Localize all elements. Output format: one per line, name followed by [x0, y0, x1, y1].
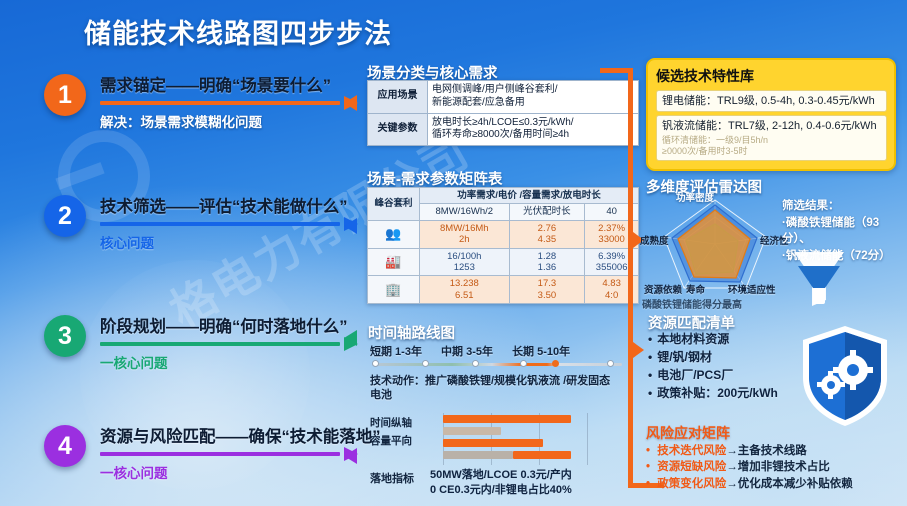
scene-row-1-value: 放电时长≥4h/LCOE≤0.3元/kWh/循环寿命≥8000次/备用时间≥4h	[428, 113, 639, 146]
risk-item-0-value: 主备技术线路	[738, 445, 807, 457]
step-3-arrow-icon	[100, 339, 358, 349]
timeline-dot-0[interactable]	[372, 360, 379, 367]
step-1-heading: 需求锚定——明确“场景要什么”	[100, 72, 331, 96]
timeline-period-labels: 短期 1-3年 中期 3-5年 长期 5-10年	[370, 343, 570, 359]
risk-item-1-value: 增加非锂技术占比	[738, 461, 830, 473]
gantt-metric-value: 50MW落地/LCOE 0.3元/产内0 CE0.3元内/非锂电占比40%	[430, 468, 660, 497]
matrix-r1-c0: 16/100h1253	[420, 248, 510, 276]
page-title: 储能技术线路图四步步法	[84, 12, 392, 51]
step-2-heading: 技术筛选——评估“技术能做什么”	[100, 193, 348, 217]
radar-extra-label-0: 资源依赖	[644, 282, 682, 296]
matrix-r0-c1: 2.764.35	[509, 220, 585, 248]
risk-item-1-key: 资源短缺风险	[657, 461, 726, 473]
candidate-library-title: 候选技术特性库	[656, 66, 887, 86]
timeline-label-2: 长期 5-10年	[512, 346, 570, 358]
risk-item-2: 政策变化风险→优化成本减少补贴依赖	[646, 476, 896, 492]
risk-item-0-key: 技术迭代风险	[657, 445, 726, 457]
gantt-bar	[443, 427, 501, 435]
risk-item-1-arrow: →	[726, 461, 738, 473]
radar-axis-label-4: 成熟度	[640, 233, 669, 247]
scene-table: 应用场景 电网侧调峰/用户侧峰谷套利/新能源配套/应急备用 关键参数 放电时长≥…	[367, 80, 639, 146]
step-4-number: 4	[44, 425, 86, 467]
screening-result-title: 筛选结果：	[782, 198, 902, 215]
timeline-dot-5[interactable]	[607, 360, 614, 367]
risk-item-2-value: 优化成本减少补贴依赖	[738, 478, 853, 490]
candidate-row-1: 钒液流储能：TRL7级, 2-12h, 0.4-0.6元/kWh 循环清储能：一…	[656, 115, 887, 161]
step-4-subtitle: 一核心问题	[100, 462, 168, 482]
risk-matrix-title: 风险应对矩阵	[646, 423, 896, 443]
step3-to-timeline-arrow-icon	[344, 330, 357, 346]
factory-icon: 🏭	[368, 248, 420, 276]
gantt-gridline	[587, 413, 588, 465]
step-1-subtitle: 解决：场景需求模糊化问题	[100, 111, 262, 131]
step-3-heading: 阶段规划——明确“何时落地什么”	[100, 313, 348, 337]
gantt-chart: 时间纵轴 容量平向	[365, 413, 633, 471]
timeline-label-0: 短期 1-3年	[370, 346, 422, 358]
step-1-number: 1	[44, 74, 86, 116]
matrix-r2-c0: 13.2386.51	[420, 276, 510, 304]
risk-item-1: 资源短缺风险→增加非锂技术占比	[646, 459, 896, 475]
candidate-faded-0: 循环清储能：一级9/目5h/n	[662, 135, 768, 145]
timeline-note: 技术动作：推广磷酸铁锂/规模化钒液流 /研发固态电池	[370, 374, 620, 403]
matrix-span-header: 功率需求/电价 /容量需求/放电时长	[420, 188, 639, 204]
building-icon: 🏢	[368, 276, 420, 304]
shield-gear-icon	[795, 322, 895, 430]
candidate-library-card: 候选技术特性库 锂电储能：TRL9级, 0.5-4h, 0.3-0.45元/kW…	[646, 58, 896, 171]
connector-arrow-low-icon	[633, 342, 644, 358]
step2-to-table-arrow-icon	[344, 218, 357, 234]
gantt-bar	[443, 439, 543, 447]
risk-item-0-arrow: →	[726, 445, 738, 457]
step-4-arrow-icon	[100, 449, 358, 459]
table-row: 🏭 16/100h1253 1.281.36 6.39%355006	[368, 248, 639, 276]
risk-item-2-key: 政策变化风险	[657, 478, 726, 490]
table-row: 峰谷套利 功率需求/电价 /容量需求/放电时长	[368, 188, 639, 204]
risk-matrix: 风险应对矩阵 技术迭代风险→主备技术线路 资源短缺风险→增加非锂技术占比 政策变…	[646, 423, 896, 492]
timeline-track[interactable]	[372, 363, 622, 366]
matrix-table-title: 场景-需求参数矩阵表	[367, 168, 502, 189]
table-row: 关键参数 放电时长≥4h/LCOE≤0.3元/kWh/循环寿命≥8000次/备用…	[368, 113, 639, 146]
radar-axis-label-2: 环境适应性	[728, 282, 776, 296]
table-row: 👥 8MW/16Mh2h 2.764.35 2.37%33000	[368, 220, 639, 248]
matrix-corner: 峰谷套利	[368, 188, 420, 221]
step-3-subtitle: 一核心问题	[100, 352, 168, 372]
users-icon: 👥	[368, 220, 420, 248]
matrix-table: 峰谷套利 功率需求/电价 /容量需求/放电时长 8MW/16Wh/2 光伏配时长…	[367, 187, 639, 304]
radar-axis-label-0: 功率密度	[676, 190, 714, 204]
table-row: 🏢 13.2386.51 17.33.50 4.834:0	[368, 276, 639, 304]
matrix-subheader-1: 光伏配时长	[509, 204, 585, 220]
candidate-faded-1: ≥0000次/备用时3-5时	[662, 146, 747, 156]
candidate-row-0: 锂电储能：TRL9级, 0.5-4h, 0.3-0.45元/kWh	[656, 90, 887, 112]
step-1-arrow-icon	[100, 98, 358, 108]
connector-vertical	[628, 68, 633, 488]
gantt-row-label-1: 容量平向	[370, 433, 412, 448]
step-2-subtitle: 核心问题	[100, 232, 154, 252]
risk-item-2-arrow: →	[726, 478, 738, 490]
gantt-bar	[513, 451, 571, 459]
step-4-heading: 资源与风险匹配——确保“技术能落地”	[100, 423, 381, 447]
step4-to-gantt-arrow-icon	[344, 448, 357, 464]
gantt-bar	[443, 451, 513, 459]
timeline-dot-3[interactable]	[520, 360, 527, 367]
gantt-row-label-0: 时间纵轴	[370, 415, 412, 430]
gantt-bar	[443, 415, 571, 423]
matrix-r1-c1: 1.281.36	[509, 248, 585, 276]
candidate-row-1-text: 钒液流储能：TRL7级, 2-12h, 0.4-0.6元/kWh	[662, 120, 877, 132]
timeline-dot-2[interactable]	[472, 360, 479, 367]
table-row: 应用场景 电网侧调峰/用户侧峰谷套利/新能源配套/应急备用	[368, 81, 639, 114]
gantt-metric-label: 落地指标	[370, 470, 414, 486]
step1-to-table-arrow-icon	[344, 95, 357, 111]
radar-axis-label-3: 寿命	[686, 282, 705, 296]
risk-item-0: 技术迭代风险→主备技术线路	[646, 443, 896, 459]
funnel-icon	[780, 238, 858, 316]
timeline-label-1: 中期 3-5年	[441, 346, 493, 358]
timeline-dot-1[interactable]	[422, 360, 429, 367]
scene-row-0-label: 应用场景	[368, 81, 428, 114]
connector-top-stub	[600, 68, 633, 73]
step-3-number: 3	[44, 315, 86, 357]
matrix-subheader-0: 8MW/16Wh/2	[420, 204, 510, 220]
timeline-title: 时间轴路线图	[368, 322, 455, 343]
matrix-r0-c0: 8MW/16Mh2h	[420, 220, 510, 248]
matrix-r2-c1: 17.33.50	[509, 276, 585, 304]
step-2-arrow-icon	[100, 219, 358, 229]
radar-caption: 磷酸铁锂储能得分最高	[642, 296, 742, 311]
scene-row-1-label: 关键参数	[368, 113, 428, 146]
timeline-dot-4[interactable]	[552, 360, 559, 367]
slide-canvas: 格电力有限公司 储能技术线路图四步步法 1 需求锚定——明确“场景要什么” 解决…	[0, 0, 907, 506]
scene-row-0-value: 电网侧调峰/用户侧峰谷套利/新能源配套/应急备用	[428, 81, 639, 114]
step-2-number: 2	[44, 195, 86, 237]
